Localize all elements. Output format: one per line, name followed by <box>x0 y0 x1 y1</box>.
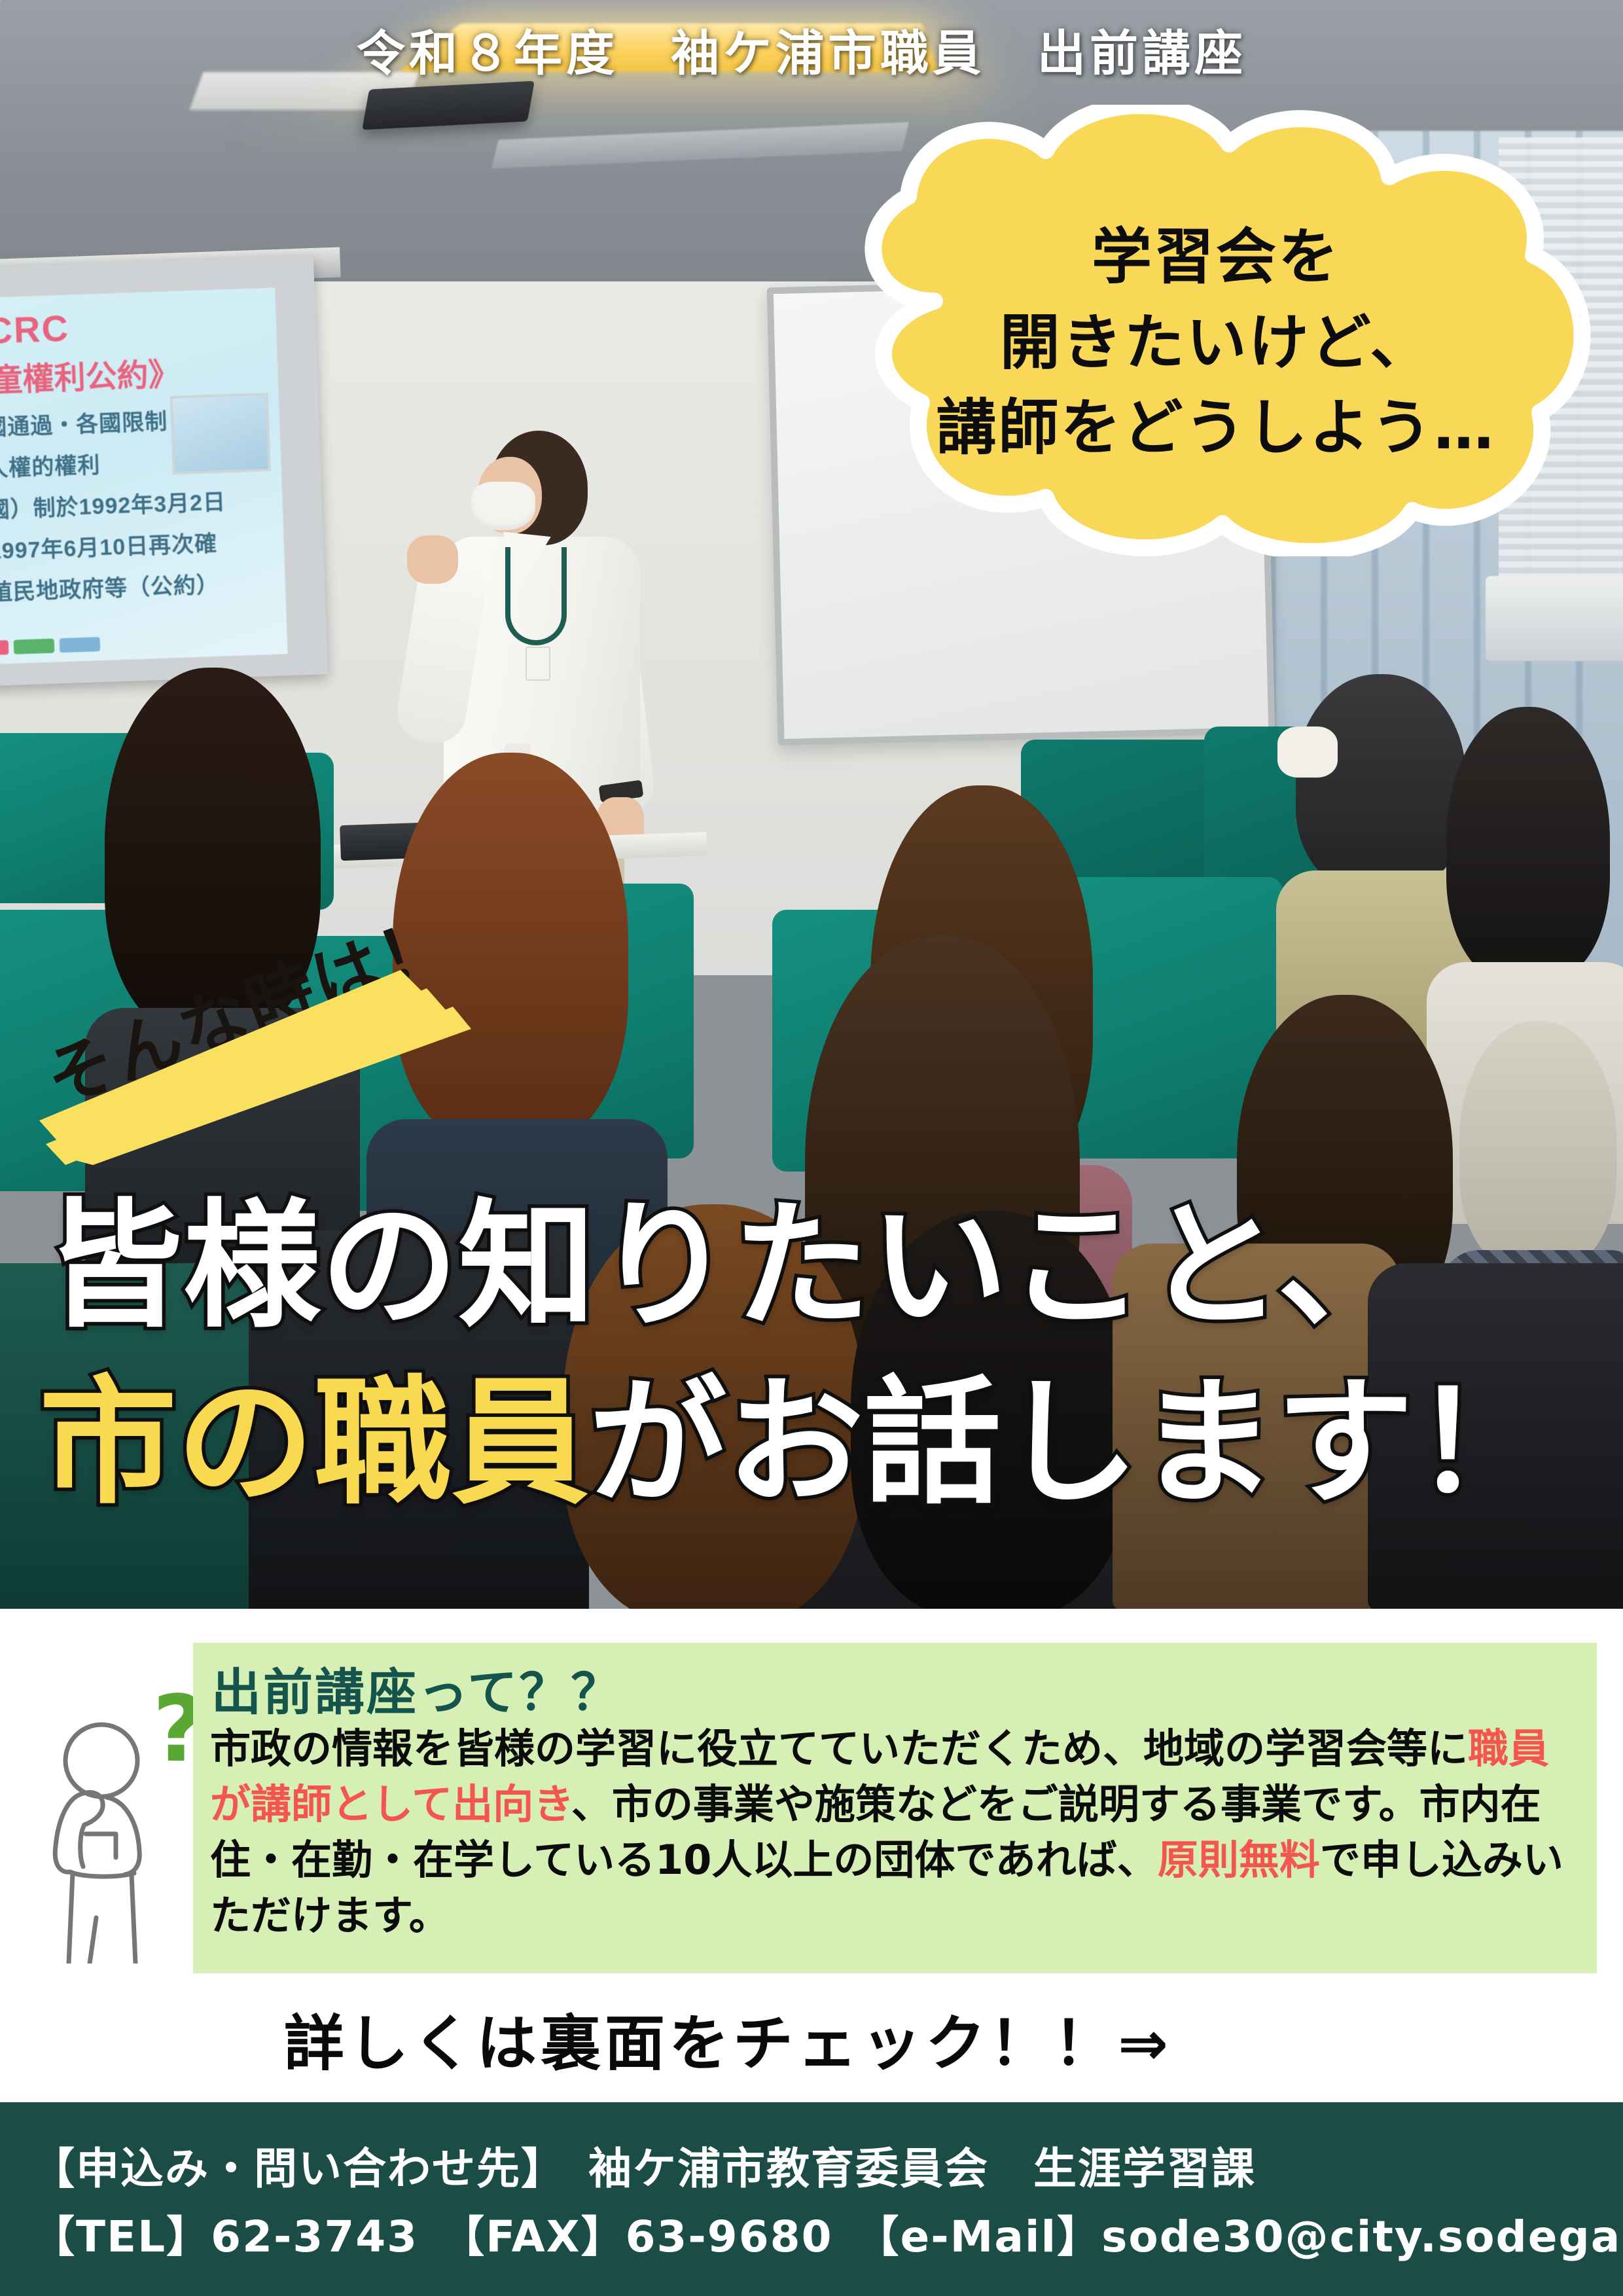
footer-organization-line: 【申込み・問い合わせ先】 袖ケ浦市教育委員会 生涯学習課 <box>31 2134 1256 2197</box>
face-mask <box>471 482 535 530</box>
body-part-4-highlight: 原則無料 <box>1158 1836 1320 1884</box>
slide-line-3: 中國）制於1992年3月2日 <box>0 482 274 525</box>
info-section: ? 出前講座って？？ 市政の情報を皆様の学習に役立てていただくため、地域の学習会… <box>0 1609 1623 2102</box>
headline-highlight: 市の職員 <box>39 1363 589 1523</box>
page-title: 令和８年度 袖ケ浦市職員 出前講座 <box>0 14 1623 84</box>
speech-bubble-text: 学習会を 開きたいけど、 講師をどうしよう… <box>830 215 1602 471</box>
slide-line-5: 國殖民地政府等（公約） <box>0 565 277 607</box>
body-part-1: 市政の情報を皆様の学習に役立てていただくため、地域の学習会等に <box>210 1725 1468 1772</box>
thinking-person-icon: ? <box>36 1669 206 1964</box>
thinking-person-drawing: ? <box>36 1669 206 1964</box>
marker-banner <box>34 969 492 1165</box>
slide-chips <box>0 637 100 656</box>
air-conditioner <box>1486 576 1623 661</box>
projector-slide: NCRC 兒童權利公約》 合國通過・各國限制 本人權的權利 中國）制於1992年… <box>0 287 288 665</box>
slide-line-4: 於1997年6月10日再次確 <box>0 524 275 566</box>
headline-rest: がお話します！ <box>589 1363 1551 1523</box>
lecture-photo: NCRC 兒童權利公約》 合國通過・各國限制 本人權的權利 中國）制於1992年… <box>0 0 1623 1609</box>
slide-subtitle: 兒童權利公約》 <box>0 345 270 401</box>
footer-contact-line: 【TEL】62-3743 【FAX】63-9680 【e-Mail】sode30… <box>31 2202 1623 2265</box>
slide-title: NCRC <box>0 300 268 353</box>
headline-line-2: 市の職員がお話します！ <box>39 1374 1551 1512</box>
speech-bubble: 学習会を 開きたいけど、 講師をどうしよう… <box>830 105 1602 556</box>
slide-thumbnail <box>170 393 271 475</box>
headline-line-1: 皆様の知りたいこと、 <box>46 1198 1415 1335</box>
contact-footer: 【申込み・問い合わせ先】 袖ケ浦市教育委員会 生涯学習課 【TEL】62-374… <box>0 2102 1623 2296</box>
info-box-title: 出前講座って？？ <box>211 1652 622 1724</box>
info-box-body: 市政の情報を皆様の学習に役立てていただくため、地域の学習会等に職員が講師として出… <box>210 1721 1578 1944</box>
check-back-side-line: 詳しくは裏面をチェック！！⇒ <box>0 1995 1456 2082</box>
id-badge <box>526 647 550 681</box>
marker-banner-shape <box>34 969 492 1165</box>
lanyard <box>505 547 567 645</box>
info-box: 出前講座って？？ 市政の情報を皆様の学習に役立てていただくため、地域の学習会等に… <box>193 1643 1597 1973</box>
